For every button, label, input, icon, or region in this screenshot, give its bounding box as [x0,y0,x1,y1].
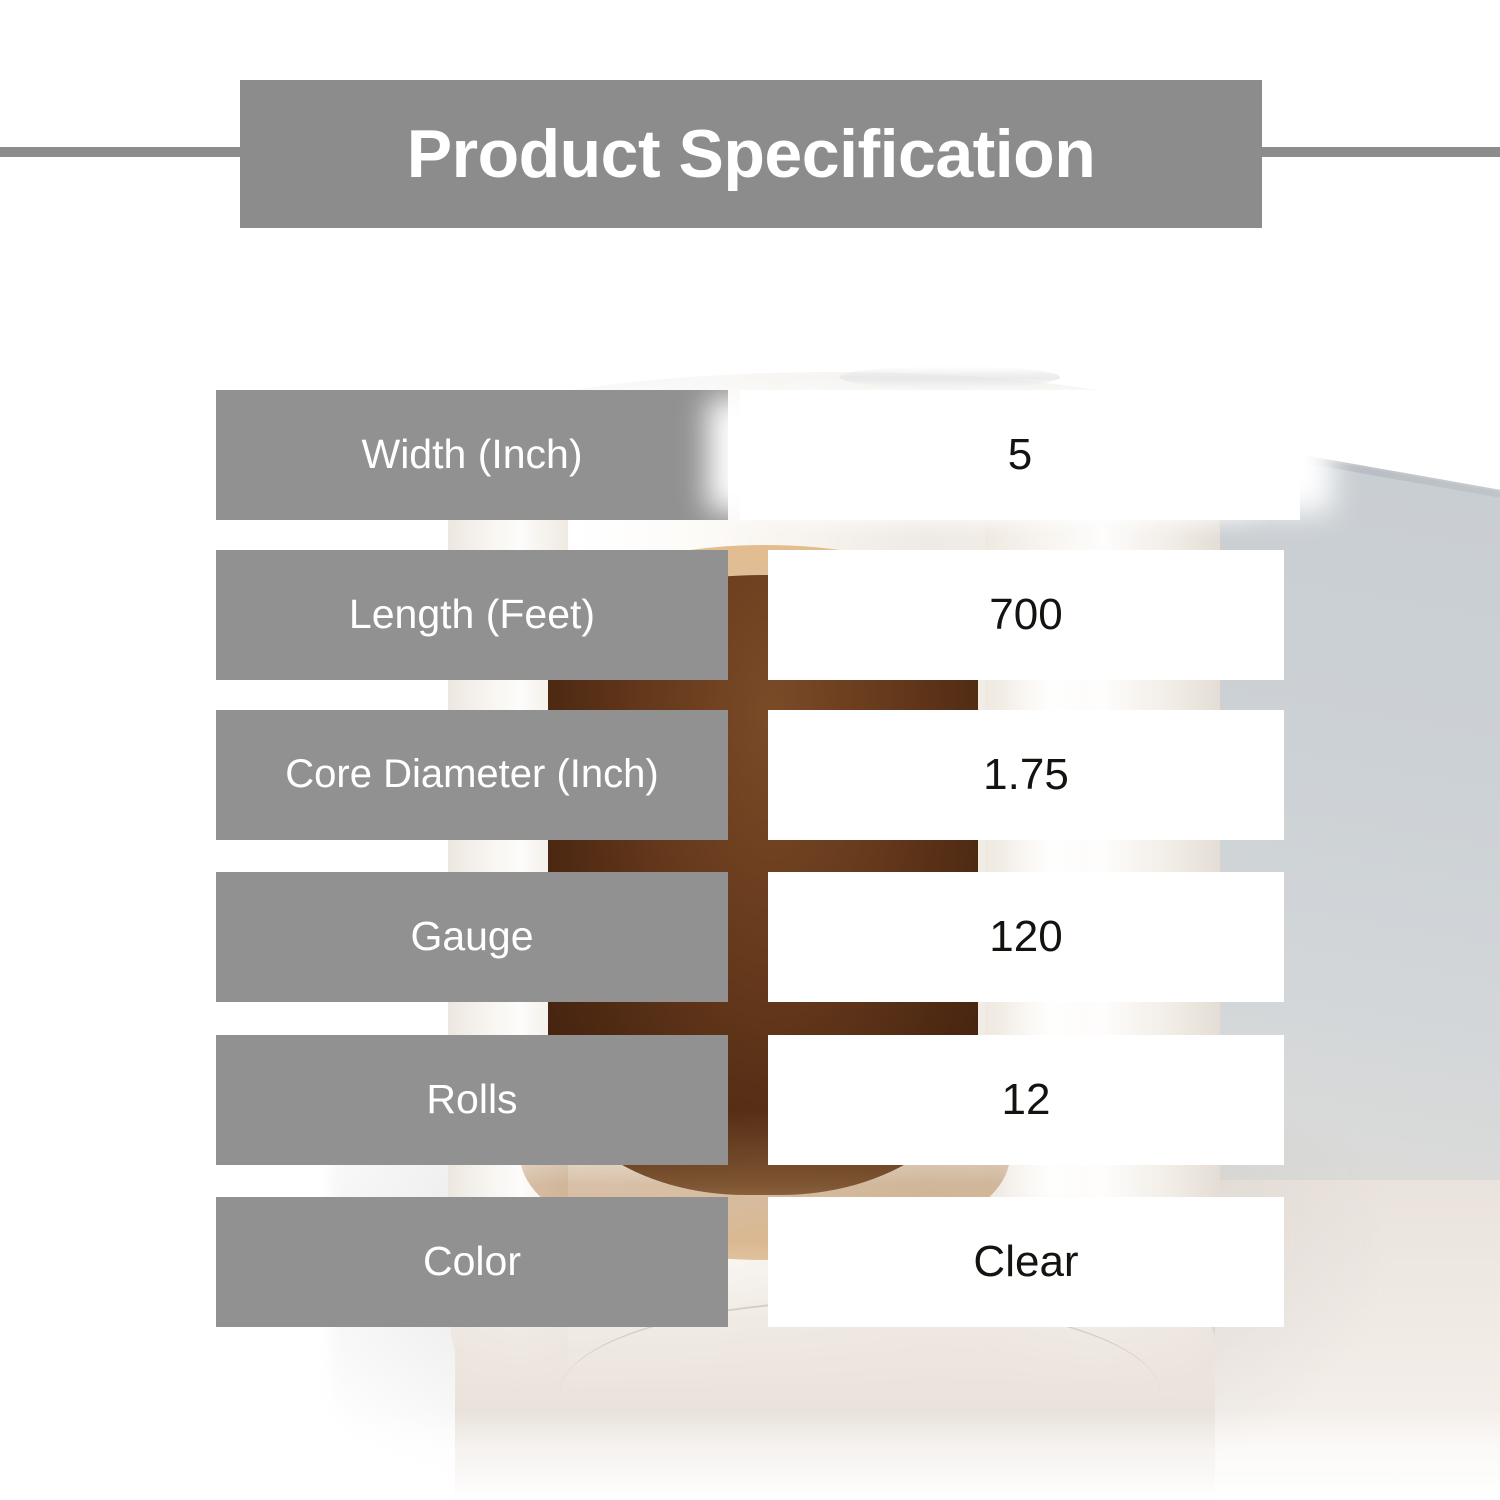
table-row: Color Clear [0,1197,1500,1327]
spec-value-width: 5 [740,390,1300,520]
table-row: Length (Feet) 700 [0,550,1500,680]
spec-value-rolls: 12 [768,1035,1284,1165]
product-specification-infographic: Product Specification Width (Inch) 5 Len… [0,0,1500,1500]
table-row: Core Diameter (Inch) 1.75 [0,710,1500,840]
spec-label-width: Width (Inch) [216,390,728,520]
spec-value-length: 700 [768,550,1284,680]
spec-table: Width (Inch) 5 Length (Feet) 700 Core Di… [0,0,1500,1500]
spec-label-core-diameter: Core Diameter (Inch) [216,710,728,840]
table-row: Gauge 120 [0,872,1500,1002]
spec-label-color: Color [216,1197,728,1327]
spec-label-gauge: Gauge [216,872,728,1002]
table-row: Rolls 12 [0,1035,1500,1165]
spec-value-gauge: 120 [768,872,1284,1002]
table-row: Width (Inch) 5 [0,390,1500,520]
spec-label-length: Length (Feet) [216,550,728,680]
spec-label-rolls: Rolls [216,1035,728,1165]
spec-value-color: Clear [768,1197,1284,1327]
spec-value-core-diameter: 1.75 [768,710,1284,840]
